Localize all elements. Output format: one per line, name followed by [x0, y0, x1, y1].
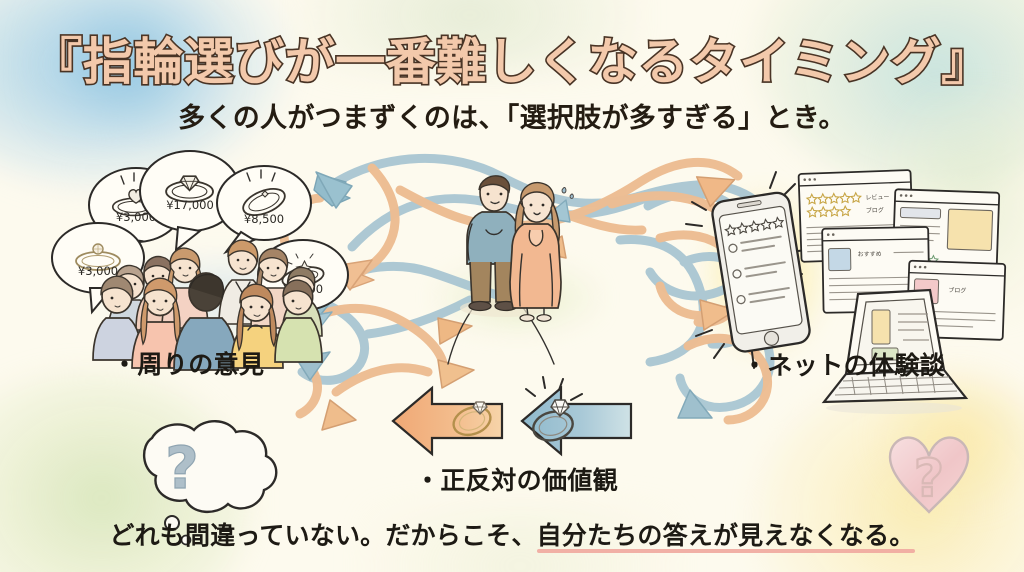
price-bubble-3: ¥8,500: [217, 166, 311, 252]
heart-question: ?: [890, 438, 968, 512]
gold-ring-icon: [450, 402, 495, 440]
couple-glow: [430, 255, 605, 340]
price-bubble-2: ¥17,000: [140, 151, 240, 250]
browser-osusume-label: おすすめ: [858, 251, 882, 258]
browser-review-label: レビュー: [865, 193, 889, 202]
browser-window-2: [892, 189, 999, 275]
browser-blog-label: ブログ: [866, 206, 884, 215]
price-label: ¥8,500: [244, 212, 284, 226]
subtitle-highlight: 選択肢が多すぎる: [520, 96, 738, 135]
thought-question-mark: ?: [165, 434, 199, 502]
opposing-values-arrows: [393, 377, 631, 454]
caption-opposing-values: ・正反対の価値観: [415, 461, 618, 497]
silver-ring-icon: [526, 377, 582, 444]
caption-mid-text: ・正反対の価値観: [415, 461, 618, 497]
price-bubble-1: ¥3,000: [89, 168, 183, 258]
page-subtitle-text: 多くの人がつまずくのは、「選択肢が多すぎる」とき。: [178, 96, 846, 135]
page-title: 『指輪選びが一番難しくなるタイミング』: [0, 22, 1024, 94]
browser-window-3: おすすめ: [822, 227, 929, 313]
watercolor-wash-bottom-right-2: [874, 362, 1024, 512]
caption-internet-experiences: ・ネットの体験談: [742, 346, 945, 382]
closing-part-before: どれも間違っていない。だからこそ、: [109, 521, 536, 550]
browser-blog-label-2: ブログ: [948, 286, 966, 295]
price-label: ¥17,000: [166, 198, 214, 212]
closing-underlined: 自分たちの答えが見えなくなる。: [537, 516, 915, 552]
caption-right-text: ・ネットの体験談: [742, 346, 945, 382]
subtitle-part-after: 」とき。: [738, 103, 846, 134]
crowd-glow: [105, 250, 335, 345]
poster-canvas: 『指輪選びが一番難しくなるタイミング』 多くの人がつまずくのは、「選択肢が多すぎ…: [0, 0, 1024, 572]
page-title-text: 『指輪選びが一番難しくなるタイミング』: [32, 33, 992, 91]
left-arrow-orange: [393, 388, 502, 454]
browser-window-4: ブログ: [907, 261, 1006, 340]
phone-glow: [700, 185, 830, 360]
page-subtitle: 多くの人がつまずくのは、「選択肢が多すぎる」とき。: [0, 96, 1024, 135]
price-label: ¥3,000: [116, 210, 156, 224]
caption-left-text: ・周りの意見: [112, 345, 264, 381]
closing-line: どれも間違っていない。だからこそ、自分たちの答えが見えなくなる。: [0, 516, 1024, 552]
heart-question-mark: ?: [914, 449, 944, 509]
caption-surrounding-opinions: ・周りの意見: [112, 345, 264, 381]
right-arrow-blue: [522, 377, 631, 454]
subtitle-part-before: 多くの人がつまずくのは、「: [178, 103, 519, 134]
